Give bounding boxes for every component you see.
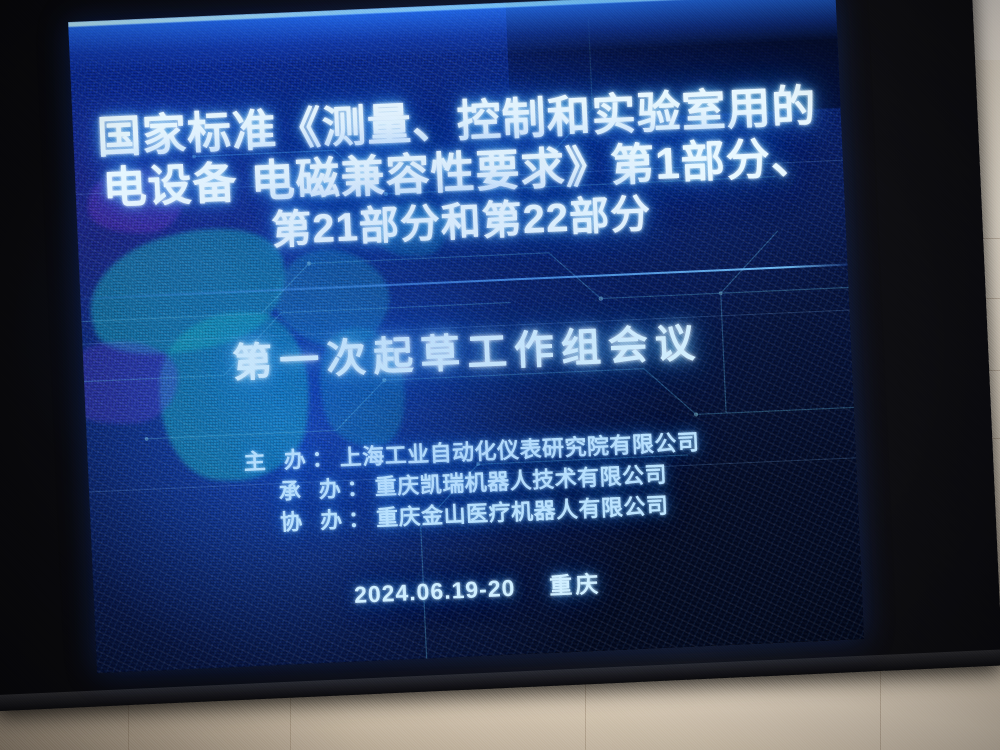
slide-subtitle: 第一次起草工作组会议 — [82, 304, 852, 396]
slide-content: 国家标准《测量、控制和实验室用的 电设备 电磁兼容性要求》第1部分、 第21部分… — [68, 0, 864, 673]
screenshot-root: 国家标准《测量、控制和实验室用的 电设备 电磁兼容性要求》第1部分、 第21部分… — [0, 0, 1000, 750]
slide-title-block: 国家标准《测量、控制和实验室用的 电设备 电磁兼容性要求》第1部分、 第21部分… — [72, 84, 846, 261]
slide-city: 重庆 — [549, 571, 602, 599]
slide-organizers-block: 主 办：上海工业自动化仪表研究院有限公司 承 办：重庆凯瑞机器人技术有限公司 协… — [87, 419, 858, 547]
organizer-label: 主 办： — [243, 445, 340, 474]
slide-date-line: 2024.06.19-20重庆 — [93, 553, 862, 621]
organizer-label: 承 办： — [278, 475, 375, 504]
organizer-label: 协 办： — [280, 506, 377, 535]
led-display-panel[interactable]: 国家标准《测量、控制和实验室用的 电设备 电磁兼容性要求》第1部分、 第21部分… — [68, 0, 864, 673]
slide-date: 2024.06.19-20 — [354, 575, 516, 608]
